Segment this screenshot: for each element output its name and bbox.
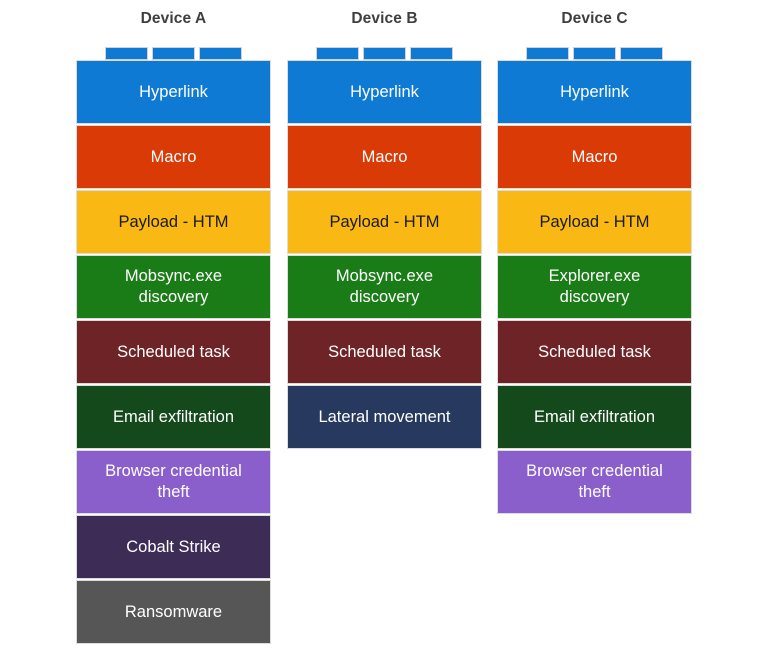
attack-stage-block: Hyperlink	[497, 60, 692, 124]
block-stack-device-c: HyperlinkMacroPayload - HTMExplorer.exe …	[497, 60, 692, 515]
attack-stage-block: Scheduled task	[287, 320, 482, 384]
lego-stud-icon	[526, 47, 569, 60]
attack-stage-label: Mobsync.exe discovery	[330, 266, 439, 308]
lego-studs-device-b	[287, 47, 482, 60]
attack-stage-label: Macro	[356, 147, 414, 168]
lego-stud-icon	[199, 47, 242, 60]
attack-stage-block: Hyperlink	[287, 60, 482, 124]
attack-stage-label: Hyperlink	[554, 82, 635, 103]
attack-stage-block: Macro	[287, 125, 482, 189]
column-header-device-c: Device C	[497, 10, 692, 28]
attack-stage-label: Lateral movement	[312, 407, 456, 428]
attack-stage-block: Browser credential theft	[497, 450, 692, 514]
lego-stud-icon	[620, 47, 663, 60]
attack-stage-label: Browser credential theft	[520, 461, 669, 503]
lego-studs-device-a	[76, 47, 271, 60]
attack-stage-block: Scheduled task	[497, 320, 692, 384]
attack-stage-block: Lateral movement	[287, 385, 482, 449]
attack-stage-block: Payload - HTM	[287, 190, 482, 254]
attack-stage-block: Email exfiltration	[497, 385, 692, 449]
attack-stage-block: Payload - HTM	[76, 190, 271, 254]
attack-stage-block: Browser credential theft	[76, 450, 271, 514]
block-stack-device-b: HyperlinkMacroPayload - HTMMobsync.exe d…	[287, 60, 482, 450]
attack-stage-block: Ransomware	[76, 580, 271, 644]
attack-stage-block: Mobsync.exe discovery	[287, 255, 482, 319]
attack-stage-block: Macro	[76, 125, 271, 189]
attack-stage-block: Email exfiltration	[76, 385, 271, 449]
attack-stage-label: Cobalt Strike	[120, 537, 226, 558]
attack-stage-block: Hyperlink	[76, 60, 271, 124]
attack-stage-label: Hyperlink	[344, 82, 425, 103]
attack-stage-block: Cobalt Strike	[76, 515, 271, 579]
lego-stud-icon	[363, 47, 406, 60]
attack-stage-block: Macro	[497, 125, 692, 189]
lego-stud-icon	[573, 47, 616, 60]
lego-studs-device-c	[497, 47, 692, 60]
attack-stage-block: Explorer.exe discovery	[497, 255, 692, 319]
attack-stage-label: Payload - HTM	[323, 212, 445, 233]
column-header-device-a: Device A	[76, 10, 271, 28]
attack-stage-label: Hyperlink	[133, 82, 214, 103]
attack-stage-label: Browser credential theft	[99, 461, 248, 503]
attack-stage-label: Payload - HTM	[533, 212, 655, 233]
attack-stage-label: Scheduled task	[111, 342, 236, 363]
attack-stage-label: Email exfiltration	[107, 407, 240, 428]
attack-stage-block: Payload - HTM	[497, 190, 692, 254]
attack-stage-label: Mobsync.exe discovery	[119, 266, 228, 308]
block-stack-device-a: HyperlinkMacroPayload - HTMMobsync.exe d…	[76, 60, 271, 645]
attack-stage-label: Macro	[145, 147, 203, 168]
attack-stage-block: Scheduled task	[76, 320, 271, 384]
attack-stage-label: Payload - HTM	[112, 212, 234, 233]
lego-stud-icon	[152, 47, 195, 60]
lego-stud-icon	[316, 47, 359, 60]
attack-chain-diagram: Device A HyperlinkMacroPayload - HTMMobs…	[0, 0, 768, 655]
lego-stud-icon	[105, 47, 148, 60]
column-header-device-b: Device B	[287, 10, 482, 28]
attack-stage-label: Ransomware	[119, 602, 228, 623]
lego-stud-icon	[410, 47, 453, 60]
attack-stage-label: Scheduled task	[532, 342, 657, 363]
attack-stage-label: Email exfiltration	[528, 407, 661, 428]
attack-stage-label: Scheduled task	[322, 342, 447, 363]
attack-stage-label: Explorer.exe discovery	[543, 266, 647, 308]
attack-stage-block: Mobsync.exe discovery	[76, 255, 271, 319]
attack-stage-label: Macro	[566, 147, 624, 168]
